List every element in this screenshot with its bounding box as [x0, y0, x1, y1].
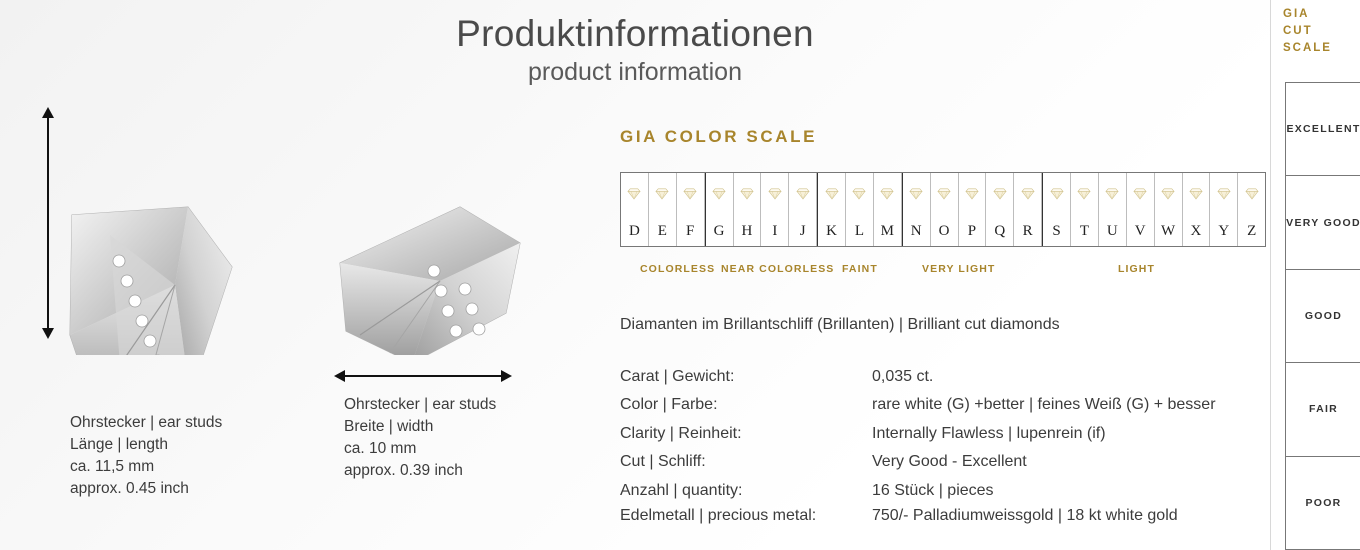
diamond-icon [823, 187, 840, 200]
diamond-icon [1215, 187, 1232, 200]
color-grade-letter: U [1107, 223, 1118, 240]
color-grade-cell: P [959, 173, 987, 246]
color-grade-cell: M [874, 173, 902, 246]
color-group-label: NEAR COLORLESS [721, 263, 834, 275]
spec-value: rare white (G) +better | feines Weiß (G)… [872, 391, 1216, 419]
gia-color-scale-group-labels: COLORLESSNEAR COLORLESSFAINTVERY LIGHTLI… [620, 263, 1266, 279]
page-title-en: product information [0, 59, 1270, 87]
color-group-label: FAINT [842, 263, 878, 275]
color-grade-cell: F [677, 173, 705, 246]
diamond-icon [879, 187, 896, 200]
diamond-icon [936, 187, 953, 200]
spec-row: Color | Farbe:rare white (G) +better | f… [620, 391, 1216, 419]
color-grade-letter: M [881, 223, 894, 240]
color-grade-cell: H [734, 173, 762, 246]
specification-table: Carat | Gewicht:0,035 ct.Color | Farbe:r… [620, 363, 1216, 505]
diamond-icon [1019, 187, 1036, 200]
color-grade-letter: G [714, 223, 725, 240]
color-grade-letter: P [968, 223, 976, 240]
color-grade-letter: T [1080, 223, 1089, 240]
spec-row: Clarity | Reinheit:Internally Flawless |… [620, 420, 1216, 448]
color-grade-letter: S [1052, 223, 1060, 240]
color-grade-letter: V [1135, 223, 1146, 240]
diamond-icon [794, 187, 811, 200]
color-grade-letter: Y [1218, 223, 1229, 240]
color-grade-cell: G [705, 173, 734, 246]
spec-value: Internally Flawless | lupenrein (if) [872, 420, 1106, 448]
color-group-label: VERY LIGHT [922, 263, 995, 275]
gia-color-scale-title: GIA COLOR SCALE [620, 127, 817, 147]
color-grade-cell: N [902, 173, 931, 246]
spec-value: 0,035 ct. [872, 363, 933, 391]
width-dimension-arrow [344, 375, 502, 377]
spec-row: Cut | Schliff:Very Good - Excellent [620, 448, 1216, 476]
diamond-icon [908, 187, 925, 200]
diamond-icon [1160, 187, 1177, 200]
cut-grade-cell: VERY GOOD [1286, 176, 1360, 269]
spec-value: 16 Stück | pieces [872, 477, 994, 505]
page-header: Produktinformationen product information [0, 14, 1270, 86]
color-grade-cell: R [1014, 173, 1042, 246]
precious-metal-row: Edelmetall | precious metal: 750/- Palla… [620, 507, 1178, 525]
color-grade-letter: N [911, 223, 922, 240]
color-grade-cell: V [1127, 173, 1155, 246]
color-grade-cell: S [1042, 173, 1071, 246]
spec-label: Anzahl | quantity: [620, 477, 872, 505]
color-grade-letter: Z [1247, 223, 1256, 240]
diamond-icon [1187, 187, 1204, 200]
color-grade-letter: K [826, 223, 837, 240]
color-grade-letter: E [658, 223, 667, 240]
diamond-icon [711, 187, 728, 200]
color-grade-cell: U [1099, 173, 1127, 246]
cut-grade-cell: EXCELLENT [1286, 83, 1360, 176]
spec-label: Color | Farbe: [620, 391, 872, 419]
diamond-icon [1048, 187, 1065, 200]
diamond-icon [1243, 187, 1260, 200]
color-grade-letter: L [855, 223, 864, 240]
color-grade-cell: I [761, 173, 789, 246]
color-grade-letter: W [1161, 223, 1175, 240]
diamond-icon [738, 187, 755, 200]
color-grade-cell: D [621, 173, 649, 246]
gia-cut-scale-title: GIA CUT SCALE [1283, 6, 1332, 57]
spec-row: Carat | Gewicht:0,035 ct. [620, 363, 1216, 391]
color-grade-letter: X [1191, 223, 1202, 240]
gia-cut-scale-list: EXCELLENTVERY GOODGOODFAIRPOOR [1285, 82, 1360, 550]
right-stud-caption: Ohrstecker | ear studs Breite | width ca… [344, 394, 496, 482]
gia-cut-scale-panel: GIA CUT SCALE EXCELLENTVERY GOODGOODFAIR… [1270, 0, 1360, 550]
spec-row: Anzahl | quantity:16 Stück | pieces [620, 477, 1216, 505]
spec-label: Clarity | Reinheit: [620, 420, 872, 448]
color-grade-cell: Z [1238, 173, 1265, 246]
diamond-icon [851, 187, 868, 200]
color-grade-cell: T [1071, 173, 1099, 246]
color-grade-cell: L [846, 173, 874, 246]
color-grade-cell: E [649, 173, 677, 246]
spec-label: Cut | Schliff: [620, 448, 872, 476]
spec-label: Carat | Gewicht: [620, 363, 872, 391]
precious-metal-value: 750/- Palladiumweissgold | 18 kt white g… [872, 507, 1178, 525]
diamond-icon [1104, 187, 1121, 200]
page-title-de: Produktinformationen [0, 14, 1270, 55]
color-grade-cell: O [931, 173, 959, 246]
diamond-icon [654, 187, 671, 200]
cut-grade-cell: POOR [1286, 457, 1360, 549]
cut-grade-cell: GOOD [1286, 270, 1360, 363]
color-grade-letter: Q [994, 223, 1005, 240]
color-grade-cell: J [789, 173, 817, 246]
color-grade-letter: F [686, 223, 694, 240]
color-grade-letter: H [742, 223, 753, 240]
color-grade-letter: R [1023, 223, 1033, 240]
left-stud-caption: Ohrstecker | ear studs Länge | length ca… [70, 412, 222, 500]
color-grade-letter: O [939, 223, 950, 240]
color-grade-letter: I [772, 223, 777, 240]
spec-value: Very Good - Excellent [872, 448, 1027, 476]
diamond-cut-heading: Diamanten im Brillantschliff (Brillanten… [620, 316, 1060, 334]
color-group-label: COLORLESS [640, 263, 715, 275]
color-grade-cell: K [817, 173, 846, 246]
diamond-icon [766, 187, 783, 200]
product-image-area [0, 95, 600, 355]
diamond-icon [991, 187, 1008, 200]
diamond-icon [1132, 187, 1149, 200]
product-information-page: Produktinformationen product information [0, 0, 1360, 550]
color-grade-letter: J [800, 223, 806, 240]
color-grade-cell: Y [1210, 173, 1238, 246]
color-grade-cell: W [1155, 173, 1183, 246]
ear-studs-illustration [0, 95, 600, 355]
color-grade-cell: X [1183, 173, 1211, 246]
diamond-icon [963, 187, 980, 200]
diamond-icon [682, 187, 699, 200]
gia-color-scale: DEFGHIJKLMNOPQRSTUVWXYZ [620, 172, 1266, 247]
diamond-icon [626, 187, 643, 200]
color-group-label: LIGHT [1118, 263, 1155, 275]
color-grade-cell: Q [986, 173, 1014, 246]
precious-metal-label: Edelmetall | precious metal: [620, 507, 872, 525]
cut-grade-cell: FAIR [1286, 363, 1360, 456]
color-grade-letter: D [629, 223, 640, 240]
diamond-icon [1076, 187, 1093, 200]
